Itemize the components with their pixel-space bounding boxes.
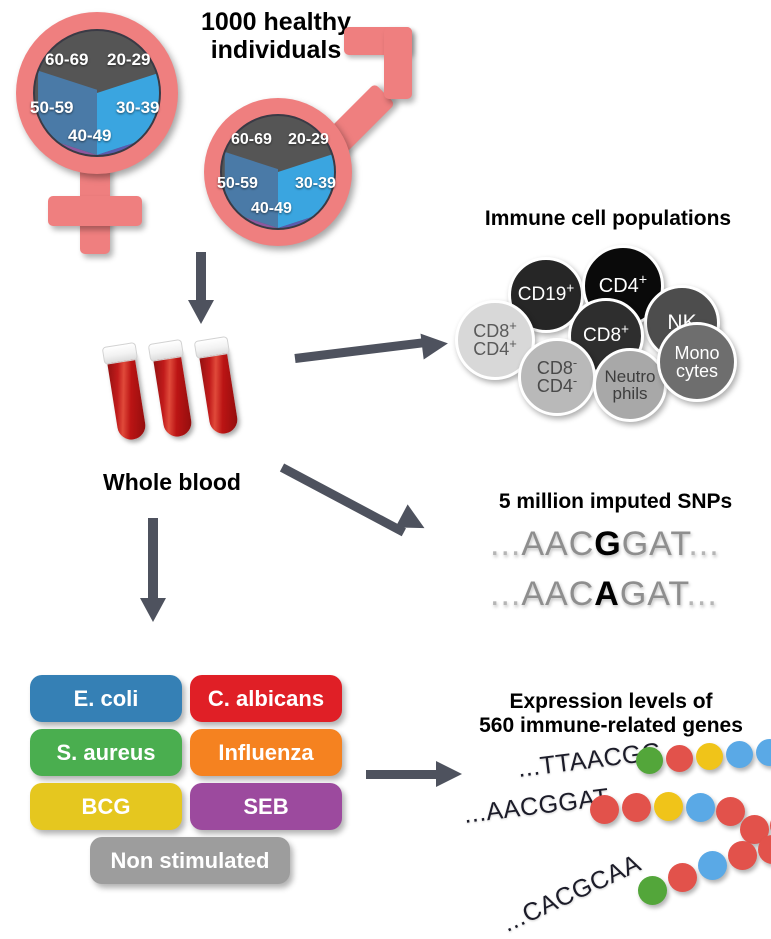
immune-bubble-neutrophils: Neutrophils [593,348,667,422]
immune-bubble-label: CD8+ [583,326,629,345]
stimulation-e-coli[interactable]: E. coli [30,675,182,722]
immune-cell-bubble-cluster: CD19+ CD4+ NK CD8+ CD8+CD4+ CD8-CD4- Neu… [450,240,771,430]
gene-chain-bead [638,876,667,905]
gene-chain-sequence: ...CACGCAA [498,849,646,938]
pie-label-60-69: 60-69 [231,131,272,149]
pie-label-40-49: 40-49 [68,126,111,146]
arrow-head [421,331,450,360]
gene-chain-bead [622,793,651,822]
pie-label-20-29: 20-29 [288,131,329,149]
male-symbol-arrowhead-side [384,27,412,99]
gene-chain-bead [728,841,757,870]
snp-post-bases: GAT [620,575,687,613]
arrow-shaft [148,518,158,602]
arrow-blood-to-stimulations [140,518,166,626]
immune-bubble-label: CD8-CD4- [537,359,577,396]
arrow-head [188,300,214,324]
immune-bubble-label: CD8+CD4+ [473,322,517,359]
pie-label-20-29: 20-29 [107,50,150,70]
arrow-shaft [280,464,406,537]
stimulation-seb[interactable]: SEB [190,783,342,830]
arrow-cohort-to-blood [188,252,214,324]
gene-chain-bead [716,797,745,826]
snp-pre-bases: AAC [521,575,594,613]
whole-blood-label: Whole blood [82,470,262,496]
pie-label-30-39: 30-39 [295,175,336,193]
gene-chain-bead [590,795,619,824]
stimulation-label: S. aureus [56,740,155,766]
immune-bubble-cd8neg-cd4neg: CD8-CD4- [518,338,596,416]
arrow-shaft [196,252,206,304]
gene-chain-bead [666,745,693,772]
gene-chain-bead [668,863,697,892]
immune-cell-populations-title: Immune cell populations [448,207,768,231]
stimulation-label: C. albicans [208,686,324,712]
gene-chain-bead [686,793,715,822]
snp-prefix: ... [490,525,521,563]
blood-tube-1 [105,342,148,441]
female-symbol-crossbar [48,196,142,226]
stimulation-label: Influenza [218,740,313,766]
pie-label-60-69: 60-69 [45,50,88,70]
gene-chain-bead [756,739,771,766]
gene-chain-bead [698,851,727,880]
pie-label-50-59: 50-59 [217,175,258,193]
stimulation-bcg[interactable]: BCG [30,783,182,830]
expression-title-line-2: 560 immune-related genes [455,714,767,738]
expression-title: Expression levels of 560 immune-related … [455,690,767,737]
gene-chain-sequence: ...AACGGAT [462,783,611,830]
immune-bubble-label: Neutrophils [604,368,655,403]
snp-variant-base: G [594,525,621,563]
arrow-shaft [294,338,424,363]
snp-sequence-row-2: ...AACAGAT... [490,575,718,614]
snp-suffix: ... [686,575,717,613]
stimulation-non-stimulated[interactable]: Non stimulated [90,837,290,884]
blood-tube-body [152,349,193,438]
arrow-blood-to-snps [282,455,452,545]
arrow-head [140,598,166,622]
arrow-blood-to-immune [295,330,460,375]
pie-label-30-39: 30-39 [116,98,159,118]
gene-chain-bead [654,792,683,821]
pie-label-50-59: 50-59 [30,98,73,118]
stimulation-label: SEB [243,794,288,820]
blood-tube-2 [151,339,194,438]
stimulation-c-albicans[interactable]: C. albicans [190,675,342,722]
gene-chain-bead [636,747,663,774]
gene-chain-bead [726,741,753,768]
snp-prefix: ... [490,575,521,613]
snp-pre-bases: AAC [521,525,594,563]
immune-bubble-label: CD4+ [599,276,647,296]
stimulation-influenza[interactable]: Influenza [190,729,342,776]
stimulation-label: BCG [82,794,131,820]
snp-variant-base: A [594,575,620,613]
stimulation-label: E. coli [74,686,139,712]
snp-sequence-row-1: ...AACGGAT... [490,525,720,564]
gene-chain-bead [696,743,723,770]
gene-chain-group: ...TTAACGG ...AACGGAT ...CACGCAA [440,745,771,920]
snp-title: 5 million imputed SNPs [460,490,771,514]
snp-post-bases: GAT [622,525,689,563]
expression-title-line-1: Expression levels of [455,690,767,714]
arrow-shaft [366,770,438,779]
immune-bubble-monocytes: Monocytes [657,322,737,402]
pie-label-40-49: 40-49 [251,200,292,218]
immune-bubble-label: Monocytes [674,344,719,381]
blood-tube-3 [197,336,240,435]
blood-tube-body [198,346,239,435]
stimulation-s-aureus[interactable]: S. aureus [30,729,182,776]
immune-bubble-label: CD19+ [518,285,575,304]
blood-tube-body [106,352,147,441]
stimulation-label: Non stimulated [111,848,270,874]
snp-suffix: ... [688,525,719,563]
